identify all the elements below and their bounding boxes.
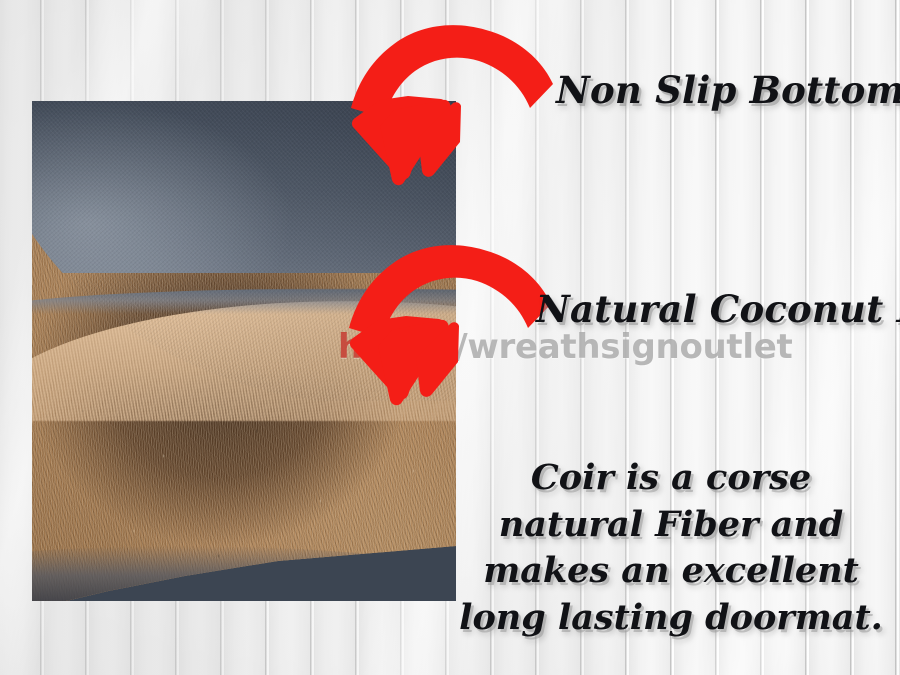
- watermark: hange/wreathsignoutlet: [338, 327, 792, 367]
- mat-bottom-edge: [32, 546, 456, 601]
- promo-image-canvas: hange/wreathsignoutlet Non Slip Bottom N…: [0, 0, 900, 675]
- description-paragraph: Coir is a corse natural Fiber and makes …: [456, 455, 886, 641]
- label-non-slip-bottom: Non Slip Bottom: [556, 72, 900, 110]
- watermark-text-over-background: /wreathsignoutlet: [455, 327, 792, 367]
- label-natural-coconut-fibers: Natural Coconut Fibers: [536, 291, 900, 329]
- watermark-text-over-photo: hange: [338, 327, 455, 367]
